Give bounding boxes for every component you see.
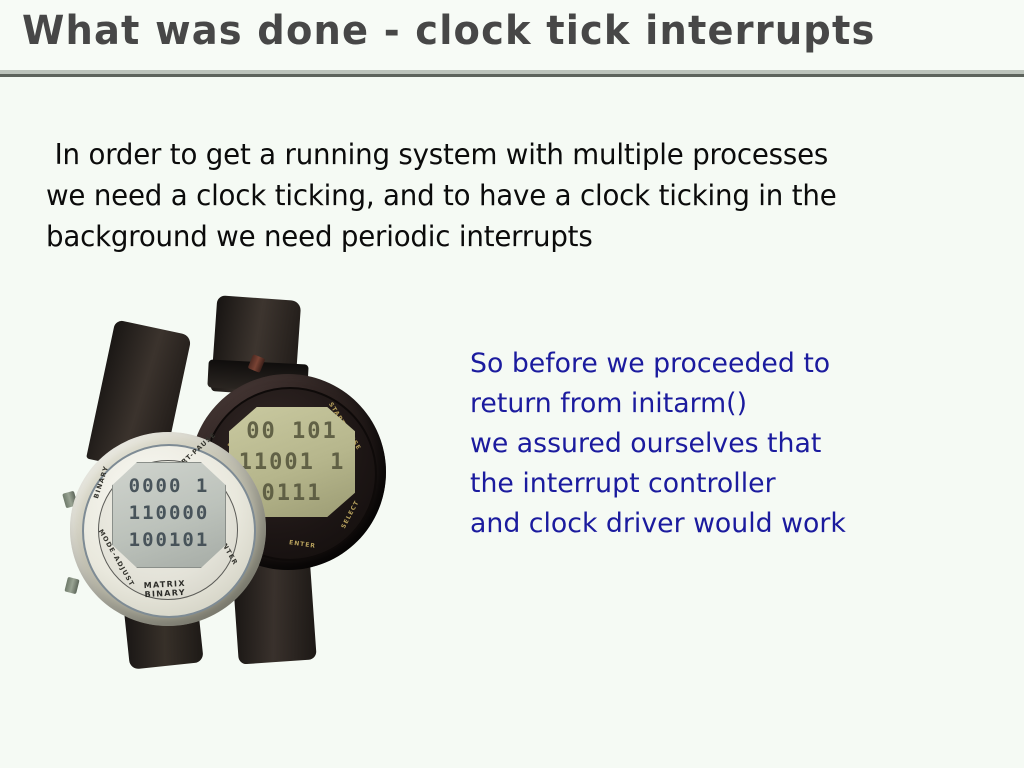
- body-line-1: In order to get a running system with mu…: [46, 134, 938, 175]
- callout-line-4: the interrupt controller: [470, 464, 985, 504]
- page-title: What was done - clock tick interrupts: [22, 8, 875, 54]
- silver-watch-lcd-display: 0000 1 110000 100101: [112, 462, 226, 568]
- callout-line-5: and clock driver would work: [470, 504, 985, 544]
- callout-line-1: So before we proceeded to: [470, 344, 985, 384]
- title-bar: What was done - clock tick interrupts: [0, 0, 1024, 72]
- slide-canvas: What was done - clock tick interrupts In…: [0, 0, 1024, 768]
- silver-lcd-row-1: 0000 1: [113, 473, 225, 500]
- silver-watch-lcd-rows: 0000 1 110000 100101: [113, 473, 225, 554]
- divider-shadow-line: [0, 74, 1024, 77]
- silver-lcd-row-3: 100101: [113, 527, 225, 554]
- callout-line-3: we assured ourselves that: [470, 424, 985, 464]
- wristwatch-photo: START-PAUSE BINARY MATRIX ENTER SELECT 0…: [62, 296, 392, 668]
- silver-wristwatch: START-PAUSE BINARY MODE-ADJUST SELECT-EN…: [62, 296, 392, 668]
- body-paragraph: In order to get a running system with mu…: [46, 134, 938, 257]
- body-line-3: background we need periodic interrupts: [46, 216, 938, 257]
- callout-paragraph: So before we proceeded to return from in…: [470, 344, 985, 544]
- callout-line-2: return from initarm(): [470, 384, 985, 424]
- silver-lcd-row-2: 110000: [113, 500, 225, 527]
- silver-watch-button-lower-left: [64, 577, 79, 594]
- body-line-2: we need a clock ticking, and to have a c…: [46, 175, 938, 216]
- title-divider: [0, 70, 1024, 77]
